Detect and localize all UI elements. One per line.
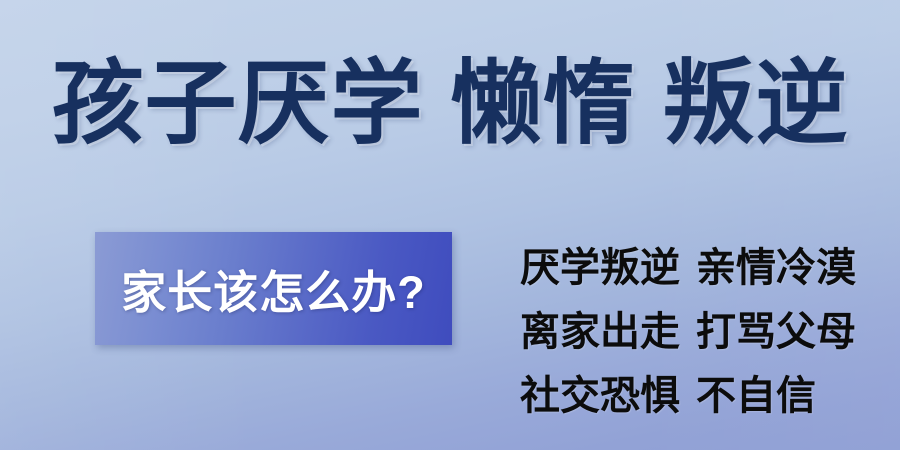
symptom-right-1: 打骂父母 [696,310,856,354]
poster-canvas: 孩子厌学 懒惰 叛逆 家长该怎么办? 厌学叛逆亲情冷漠 离家出走打骂父母 社交恐… [0,0,900,450]
symptom-right-0: 亲情冷漠 [696,246,856,290]
symptom-left-1: 离家出走 [520,310,680,354]
symptom-left-2: 社交恐惧 [520,374,680,418]
symptom-row: 离家出走打骂父母 [520,300,890,364]
cta-banner: 家长该怎么办? [95,232,452,345]
symptom-right-2: 不自信 [696,374,816,418]
cta-banner-label: 家长该怎么办? [121,256,426,321]
symptom-left-0: 厌学叛逆 [520,246,680,290]
symptom-list: 厌学叛逆亲情冷漠 离家出走打骂父母 社交恐惧不自信 [520,236,890,428]
symptom-row: 厌学叛逆亲情冷漠 [520,236,890,300]
symptom-row: 社交恐惧不自信 [520,364,890,428]
page-title: 孩子厌学 懒惰 叛逆 [0,58,900,150]
